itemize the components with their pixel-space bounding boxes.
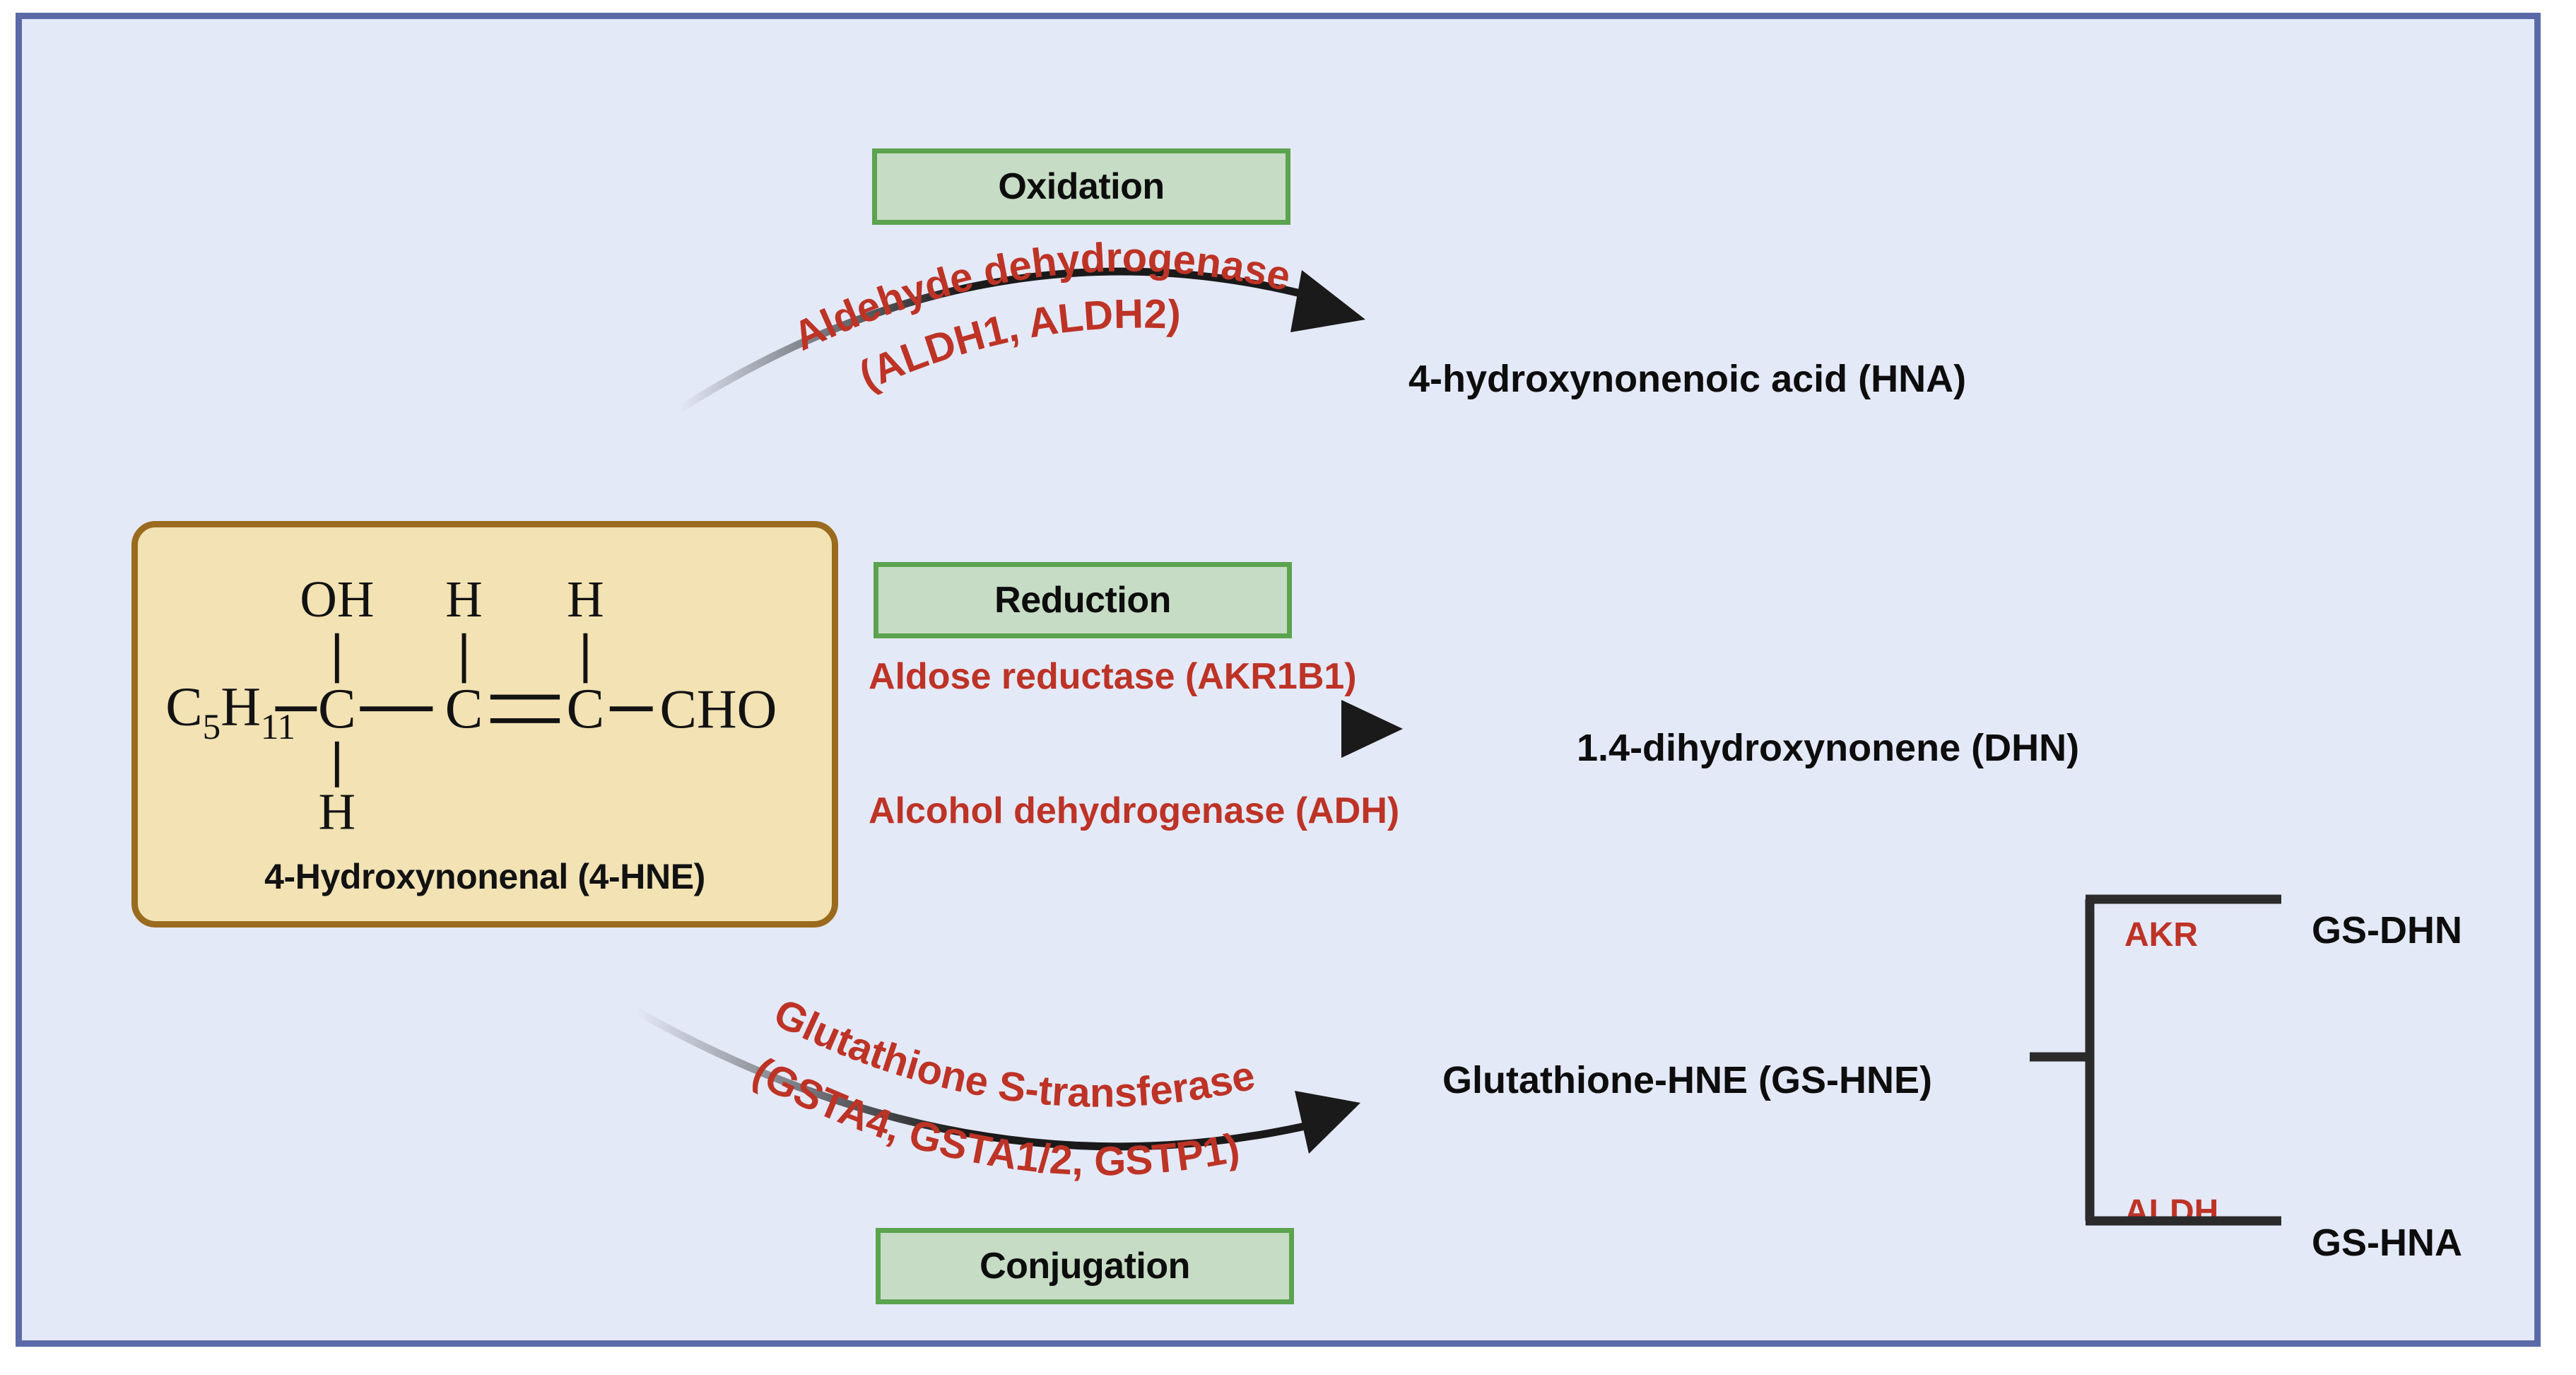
stage-box-oxidation[interactable]: Oxidation [872, 148, 1290, 225]
substituent-h-top-c2: H [445, 571, 482, 628]
carbon-3: C [567, 677, 605, 740]
enzyme-label-alcohol-dehydrogenase: Alcohol dehydrogenase (ADH) [869, 790, 1399, 832]
enzyme-label-akr: AKR [2124, 915, 2198, 954]
diagram-panel: OH H H C5H11 C C [16, 13, 2541, 1347]
enzyme-label-aldh: ALDH [2124, 1193, 2218, 1231]
product-label-dhn: 1.4-dihydroxynonene (DHN) [1577, 726, 2079, 770]
product-label-gs-hne: Glutathione-HNE (GS-HNE) [1442, 1058, 1932, 1102]
product-label-hna: 4-hydroxynonenoic acid (HNA) [1408, 357, 1966, 401]
stage-box-conjugation[interactable]: Conjugation [876, 1228, 1294, 1304]
carbon-1: C [318, 677, 356, 740]
diagram-canvas: OH H H C5H11 C C [0, 0, 2576, 1375]
product-label-gs-dhn: GS-DHN [2312, 908, 2462, 952]
enzyme-label-aldose-reductase: Aldose reductase (AKR1B1) [869, 655, 1357, 698]
substrate-caption: 4-Hydroxynonenal (4-HNE) [138, 856, 832, 897]
molecular-structure: OH H H C5H11 C C [138, 564, 832, 833]
carbon-2: C [445, 677, 483, 740]
substrate-card: OH H H C5H11 C C [131, 521, 838, 928]
substituent-h-top-c3: H [567, 571, 604, 628]
product-label-gs-hna: GS-HNA [2312, 1221, 2462, 1265]
substituent-h-bottom: H [319, 783, 355, 833]
substituent-oh: OH [300, 571, 374, 628]
terminal-cho: CHO [659, 678, 777, 739]
stage-box-reduction[interactable]: Reduction [874, 562, 1292, 638]
